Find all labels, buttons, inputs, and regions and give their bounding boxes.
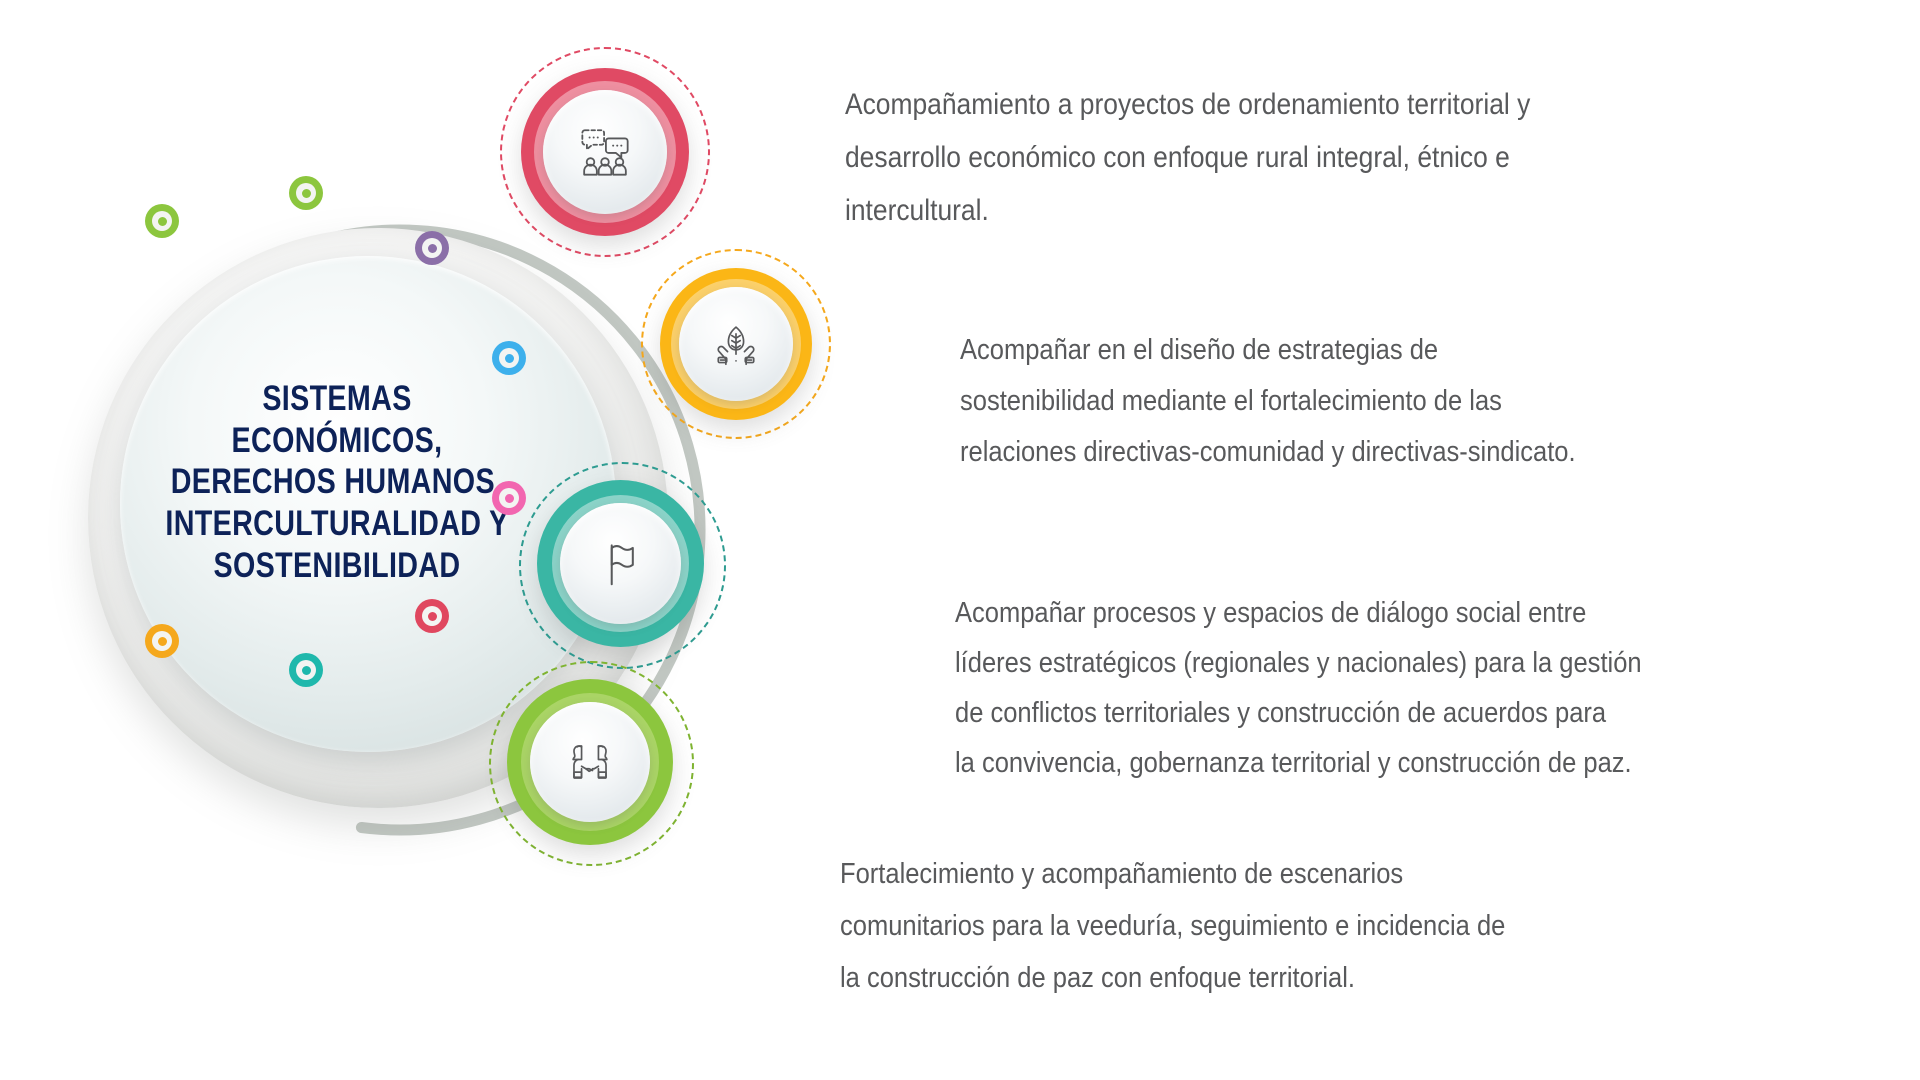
node-1[interactable] bbox=[500, 47, 710, 257]
orbit-dot-green-top-ring bbox=[296, 183, 316, 203]
description-2-line-1: Acompañar en el diseño de estrategias de bbox=[960, 325, 1866, 376]
description-text-1: Acompañamiento a proyectos de ordenamien… bbox=[845, 78, 1795, 237]
discussion-group-icon bbox=[576, 123, 634, 181]
description-4-line-3: la construcción de paz con enfoque terri… bbox=[840, 952, 1773, 1004]
description-4-line-1: Fortalecimiento y acompañamiento de esce… bbox=[840, 848, 1773, 900]
node-1-icon-disc bbox=[543, 90, 667, 214]
description-1-line-1: Acompañamiento a proyectos de ordenamien… bbox=[845, 78, 1795, 131]
flag-icon bbox=[594, 537, 648, 591]
node-2[interactable] bbox=[641, 249, 831, 439]
node-3-icon-disc bbox=[560, 503, 681, 624]
description-2-line-2: sostenibilidad mediante el fortalecimien… bbox=[960, 376, 1866, 427]
orbit-dot-green-top bbox=[289, 176, 323, 210]
description-text-2: Acompañar en el diseño de estrategias de… bbox=[960, 325, 1866, 478]
description-3-line-2: líderes estratégicos (regionales y nacio… bbox=[955, 638, 1861, 688]
description-1-line-2: desarrollo económico con enfoque rural i… bbox=[845, 131, 1795, 184]
node-3[interactable] bbox=[519, 462, 726, 669]
orbit-dot-purple-core bbox=[428, 244, 437, 253]
description-3-line-4: la convivencia, gobernanza territorial y… bbox=[955, 738, 1861, 788]
orbit-dot-green-top-core bbox=[302, 189, 311, 198]
orbit-dot-green-left-core bbox=[158, 217, 167, 226]
description-1-line-3: intercultural. bbox=[845, 184, 1795, 237]
orbit-dot-green-left-ring bbox=[152, 211, 172, 231]
description-3-line-1: Acompañar procesos y espacios de diálogo… bbox=[955, 588, 1861, 638]
orbit-dot-pink-core bbox=[505, 494, 514, 503]
orbit-dot-red bbox=[415, 599, 449, 633]
orbit-dot-red-ring bbox=[422, 606, 442, 626]
node-4[interactable] bbox=[489, 661, 694, 866]
orbit-dot-red-core bbox=[428, 612, 437, 621]
node-2-icon-disc bbox=[679, 287, 793, 401]
description-2-line-3: relaciones directivas-comunidad y direct… bbox=[960, 427, 1866, 478]
node-4-icon-disc bbox=[530, 702, 650, 822]
orbit-dot-blue-ring bbox=[499, 348, 519, 368]
description-text-4: Fortalecimiento y acompañamiento de esce… bbox=[840, 848, 1773, 1004]
orbit-dot-teal-core bbox=[302, 666, 311, 675]
orbit-dot-purple bbox=[415, 231, 449, 265]
description-text-3: Acompañar procesos y espacios de diálogo… bbox=[955, 588, 1861, 788]
orbit-dot-pink-ring bbox=[499, 488, 519, 508]
orbit-dot-blue-core bbox=[505, 354, 514, 363]
hub-title: SISTEMAS ECONÓMICOS, DERECHOS HUMANOS, I… bbox=[161, 378, 514, 586]
handshake-people-icon bbox=[563, 735, 617, 789]
description-3-line-3: de conflictos territoriales y construcci… bbox=[955, 688, 1861, 738]
orbit-dot-green-left bbox=[145, 204, 179, 238]
hands-holding-leaf-icon bbox=[709, 317, 763, 371]
infographic-canvas: SISTEMAS ECONÓMICOS, DERECHOS HUMANOS, I… bbox=[0, 0, 1920, 1080]
description-4-line-2: comunitarios para la veeduría, seguimien… bbox=[840, 900, 1773, 952]
orbit-dot-teal bbox=[289, 653, 323, 687]
orbit-dot-blue bbox=[492, 341, 526, 375]
orbit-dot-purple-ring bbox=[422, 238, 442, 258]
orbit-dot-amber-ring bbox=[152, 631, 172, 651]
orbit-dot-amber bbox=[145, 624, 179, 658]
orbit-dot-amber-core bbox=[158, 637, 167, 646]
orbit-dot-teal-ring bbox=[296, 660, 316, 680]
